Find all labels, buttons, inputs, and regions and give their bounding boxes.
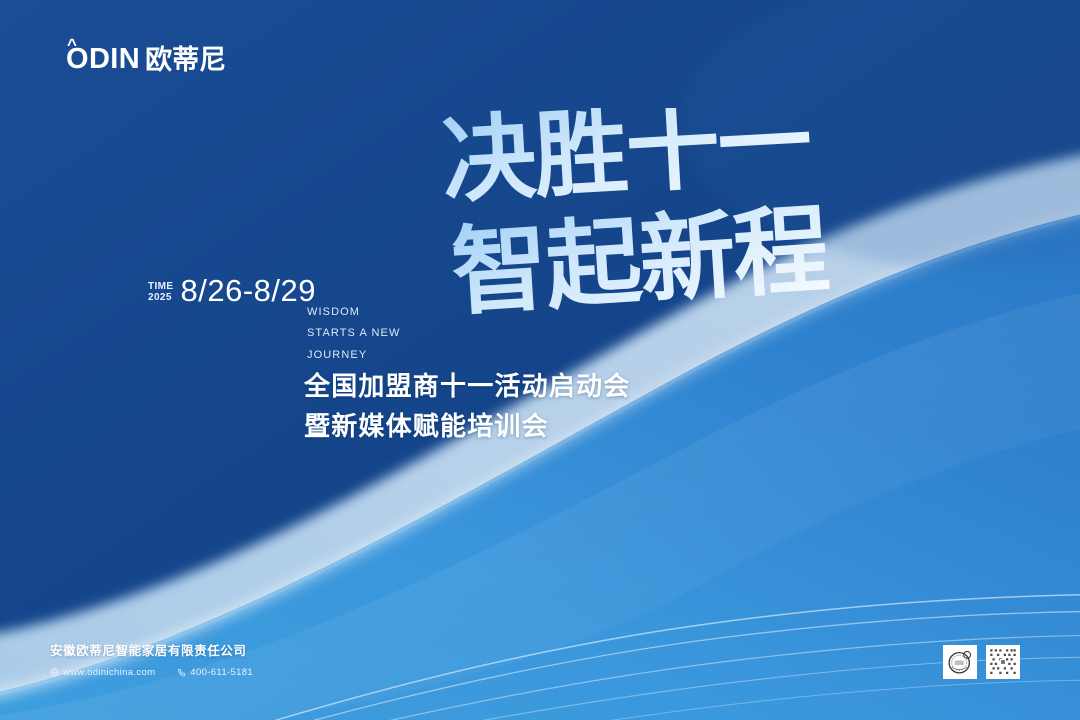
logo-latin-wordmark: ^ ODIN <box>66 45 140 74</box>
date-label-year: 2025 <box>148 292 174 303</box>
phone-item: 400-611-5181 <box>177 667 253 678</box>
date-range: 8/26-8/29 <box>181 275 317 306</box>
tagline-line-2: STARTS A NEW <box>307 323 400 344</box>
headline-line-2: 智起新程 <box>448 193 830 329</box>
website-item: www.odinichina.com <box>50 667 155 678</box>
website-text: www.odinichina.com <box>63 667 155 678</box>
tagline-line-3: JOURNEY <box>307 345 400 366</box>
logo-circumflex-icon: ^ <box>67 36 77 53</box>
event-poster: ^ ODIN 欧蒂尼 决胜十一 智起新程 TIME 2025 8/26-8/29 <box>0 0 1080 720</box>
footer-info: 安徽欧蒂尼智能家居有限责任公司 www.odinichina.com 400-6… <box>50 645 253 678</box>
subtitle-line-1: 全国加盟商十一活动启动会 <box>304 368 630 408</box>
official-seal-badge[interactable] <box>943 645 977 679</box>
globe-icon <box>50 668 59 677</box>
event-subtitle: 全国加盟商十一活动启动会 暨新媒体赋能培训会 <box>304 368 630 447</box>
logo-chinese-text: 欧蒂尼 <box>145 47 226 74</box>
brand-logo: ^ ODIN 欧蒂尼 <box>66 45 226 74</box>
headline-calligraphy: 决胜十一 智起新程 <box>440 108 910 343</box>
event-date: TIME 2025 8/26-8/29 <box>148 275 316 306</box>
date-label: TIME 2025 <box>148 278 174 303</box>
wechat-qr-code[interactable] <box>986 645 1020 679</box>
phone-icon <box>177 668 186 677</box>
date-label-time: TIME <box>148 281 174 292</box>
subtitle-line-2: 暨新媒体赋能培训会 <box>304 408 630 448</box>
company-name: 安徽欧蒂尼智能家居有限责任公司 <box>50 645 253 658</box>
phone-text: 400-611-5181 <box>190 667 253 678</box>
english-tagline: WISDOM STARTS A NEW JOURNEY <box>307 302 400 366</box>
contact-row: www.odinichina.com 400-611-5181 <box>50 667 253 678</box>
tagline-line-1: WISDOM <box>307 302 400 323</box>
qr-code-group <box>943 645 1020 679</box>
